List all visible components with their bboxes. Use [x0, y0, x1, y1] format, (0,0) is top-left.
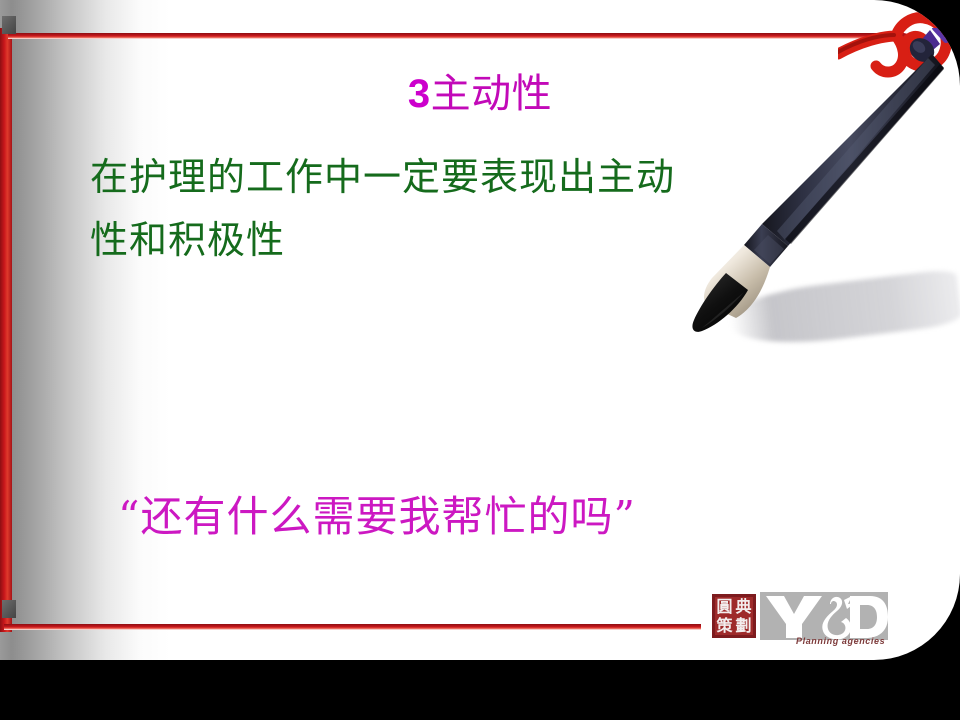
bottom-red-rule	[4, 624, 701, 630]
body-text-line-2: 性和积极性	[90, 209, 790, 272]
quote-text: “还有什么需要我帮忙的吗”	[118, 492, 838, 542]
left-red-bar	[0, 28, 12, 632]
logo-seal: 圓 典 策 劃	[712, 594, 756, 638]
seal-char-4: 劃	[734, 616, 753, 635]
seal-char-1: 圓	[715, 597, 734, 616]
logo-tagline: Planning agencies	[796, 636, 885, 646]
slide-canvas: 3主动性 在护理的工作中一定要表现出主动 性和积极性 “还有什么需要我帮忙的吗”…	[0, 0, 960, 660]
seal-char-3: 策	[715, 616, 734, 635]
body-text-block: 在护理的工作中一定要表现出主动 性和积极性	[90, 146, 790, 272]
corner-marker-top-left	[2, 16, 16, 34]
corner-marker-bottom-left	[2, 600, 16, 618]
logo: 圓 典 策 劃 Planning agencies	[712, 592, 888, 656]
slide-root: 3主动性 在护理的工作中一定要表现出主动 性和积极性 “还有什么需要我帮忙的吗”…	[0, 0, 960, 720]
seal-char-2: 典	[734, 597, 753, 616]
page-title: 3主动性	[0, 72, 960, 116]
body-text-line-1: 在护理的工作中一定要表现出主动	[90, 146, 790, 209]
logo-wordmark-yd-icon	[760, 592, 888, 642]
title-number: 3	[408, 72, 431, 116]
title-label: 主动性	[431, 71, 553, 117]
